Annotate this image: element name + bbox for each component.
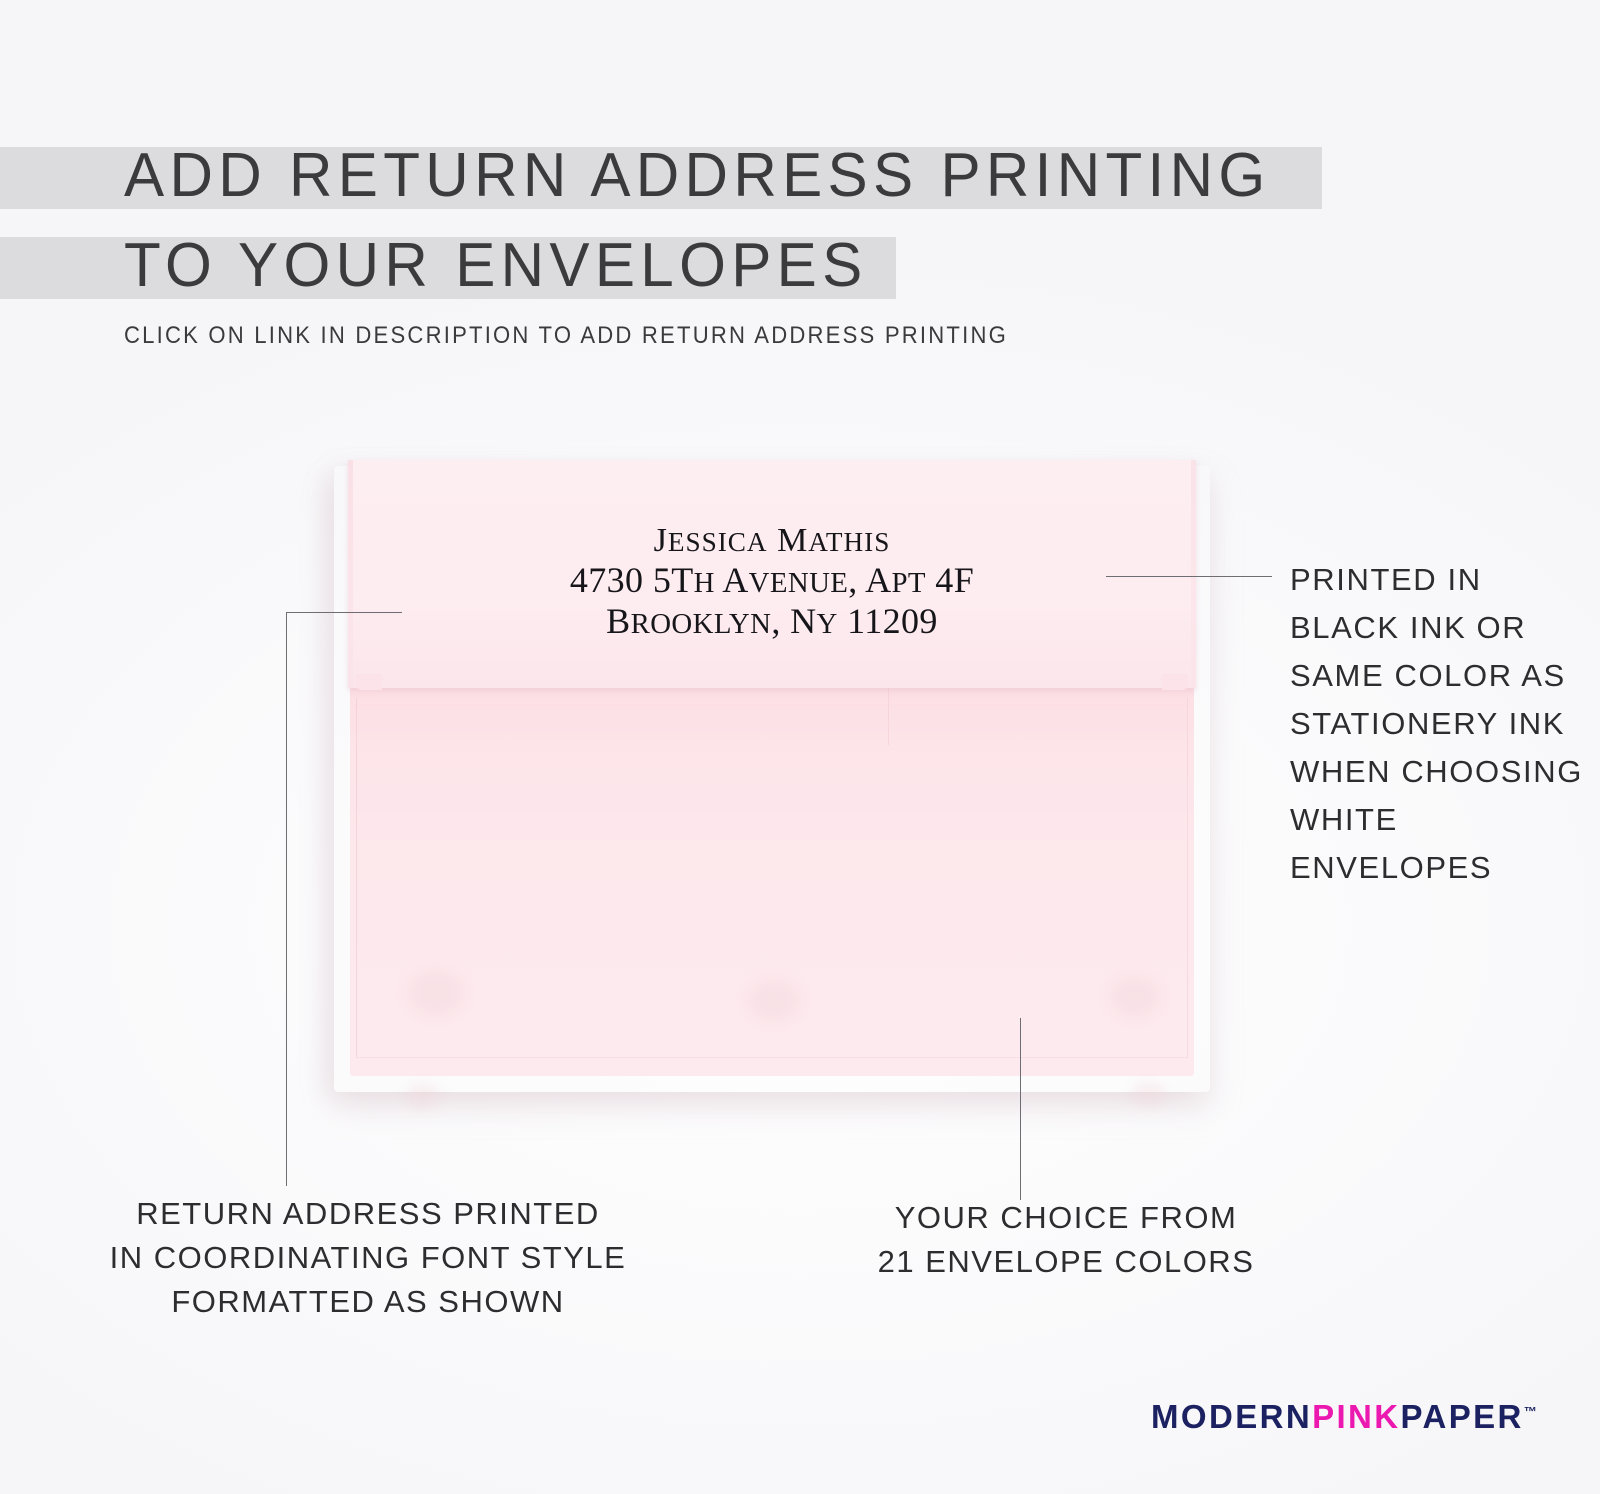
leader-line-right-horizontal	[1106, 576, 1272, 577]
annotation-return-address-style: RETURN ADDRESS PRINTED IN COORDINATING F…	[88, 1192, 648, 1324]
annotation-envelope-colors-line-2: 21 ENVELOPE COLORS	[856, 1240, 1276, 1284]
envelope-texture-blob	[1110, 976, 1160, 1018]
return-address-street: 4730 5TH AVENUE, APT 4F	[348, 560, 1196, 601]
annotation-envelope-colors: YOUR CHOICE FROM 21 ENVELOPE COLORS	[856, 1196, 1276, 1284]
page-subtitle: CLICK ON LINK IN DESCRIPTION TO ADD RETU…	[124, 322, 1008, 350]
envelope-flap: JESSICA MATHIS 4730 5TH AVENUE, APT 4F B…	[348, 460, 1196, 688]
brand-logo-modern: MODERN	[1151, 1398, 1312, 1435]
brand-logo-paper: PAPER	[1401, 1398, 1524, 1435]
annotation-printing-ink-text: PRINTED IN BLACK INK OR SAME COLOR AS ST…	[1290, 556, 1590, 892]
envelope-texture-blob	[408, 970, 464, 1016]
annotation-return-address-style-line-1: RETURN ADDRESS PRINTED	[88, 1192, 648, 1236]
header-block: ADD RETURN ADDRESS PRINTING TO YOUR ENVE…	[0, 135, 1600, 315]
trademark-icon: ™	[1524, 1404, 1537, 1419]
envelope-flap-notch-left	[356, 674, 382, 690]
envelope-flap-seam	[888, 685, 889, 745]
return-address-city-state-zip: BROOKLYN, NY 11209	[348, 601, 1196, 642]
leader-line-center-vertical	[1020, 1018, 1021, 1200]
annotation-envelope-colors-line-1: YOUR CHOICE FROM	[856, 1196, 1276, 1240]
envelope-body	[350, 684, 1194, 1076]
envelope-texture-blob	[1132, 1082, 1166, 1106]
heading-line-2: TO YOUR ENVELOPES	[0, 225, 1600, 307]
brand-logo-pink: PINK	[1312, 1398, 1400, 1435]
leader-line-left-vertical	[286, 612, 287, 1186]
return-address-name: JESSICA MATHIS	[348, 522, 1196, 560]
page-title-line-2: TO YOUR ENVELOPES	[124, 225, 868, 307]
envelope-texture-blob	[748, 980, 800, 1022]
annotation-return-address-style-line-3: FORMATTED AS SHOWN	[88, 1280, 648, 1324]
envelope-mockup: JESSICA MATHIS 4730 5TH AVENUE, APT 4F B…	[348, 460, 1196, 1076]
return-address-block: JESSICA MATHIS 4730 5TH AVENUE, APT 4F B…	[348, 522, 1196, 642]
envelope-texture-blob	[406, 1084, 440, 1108]
envelope-flap-notch-right	[1162, 674, 1188, 690]
heading-line-1: ADD RETURN ADDRESS PRINTING	[0, 135, 1600, 217]
page-title-line-1: ADD RETURN ADDRESS PRINTING	[124, 135, 1270, 217]
annotation-printing-ink: PRINTED IN BLACK INK OR SAME COLOR AS ST…	[1290, 556, 1590, 892]
brand-logo[interactable]: MODERNPINKPAPER™	[1151, 1398, 1537, 1436]
leader-line-left-horizontal	[286, 612, 402, 613]
annotation-return-address-style-line-2: IN COORDINATING FONT STYLE	[88, 1236, 648, 1280]
